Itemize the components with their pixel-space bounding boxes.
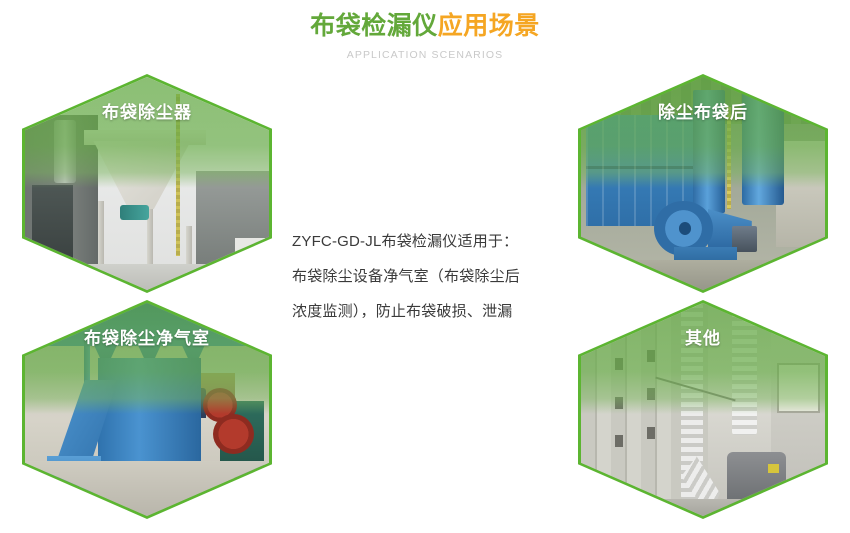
page-subtitle: APPLICATION SCENARIOS	[0, 43, 850, 61]
description-line-3: 浓度监测），防止布袋破损、泄漏	[292, 294, 572, 329]
hex-card-other[interactable]: 其他	[578, 300, 828, 519]
page-title: 布袋检漏仪应用场景	[0, 0, 850, 43]
hex-card-after-dust-removal-bag[interactable]: 除尘布袋后	[578, 74, 828, 293]
hex-card-bag-filter-dust-collector[interactable]: 布袋除尘器	[22, 74, 272, 293]
page-title-orange-part: 应用场景	[438, 12, 540, 40]
description-line-1: ZYFC-GD-JL布袋检漏仪适用于：	[292, 224, 572, 259]
hex-card-bag-filter-clean-air-chamber[interactable]: 布袋除尘净气室	[22, 300, 272, 519]
description-text-block: ZYFC-GD-JL布袋检漏仪适用于： 布袋除尘设备净气室（布袋除尘后 浓度监测…	[292, 224, 572, 329]
description-line-2: 布袋除尘设备净气室（布袋除尘后	[292, 259, 572, 294]
hex-label-other: 其他	[578, 324, 828, 349]
page-title-green-part: 布袋检漏仪	[310, 12, 438, 40]
hex-label-after-dust-removal-bag: 除尘布袋后	[578, 98, 828, 123]
page-header: 布袋检漏仪应用场景 APPLICATION SCENARIOS	[0, 0, 850, 61]
hex-label-bag-filter-clean-air-chamber: 布袋除尘净气室	[22, 324, 272, 349]
hex-label-bag-filter-dust-collector: 布袋除尘器	[22, 98, 272, 123]
